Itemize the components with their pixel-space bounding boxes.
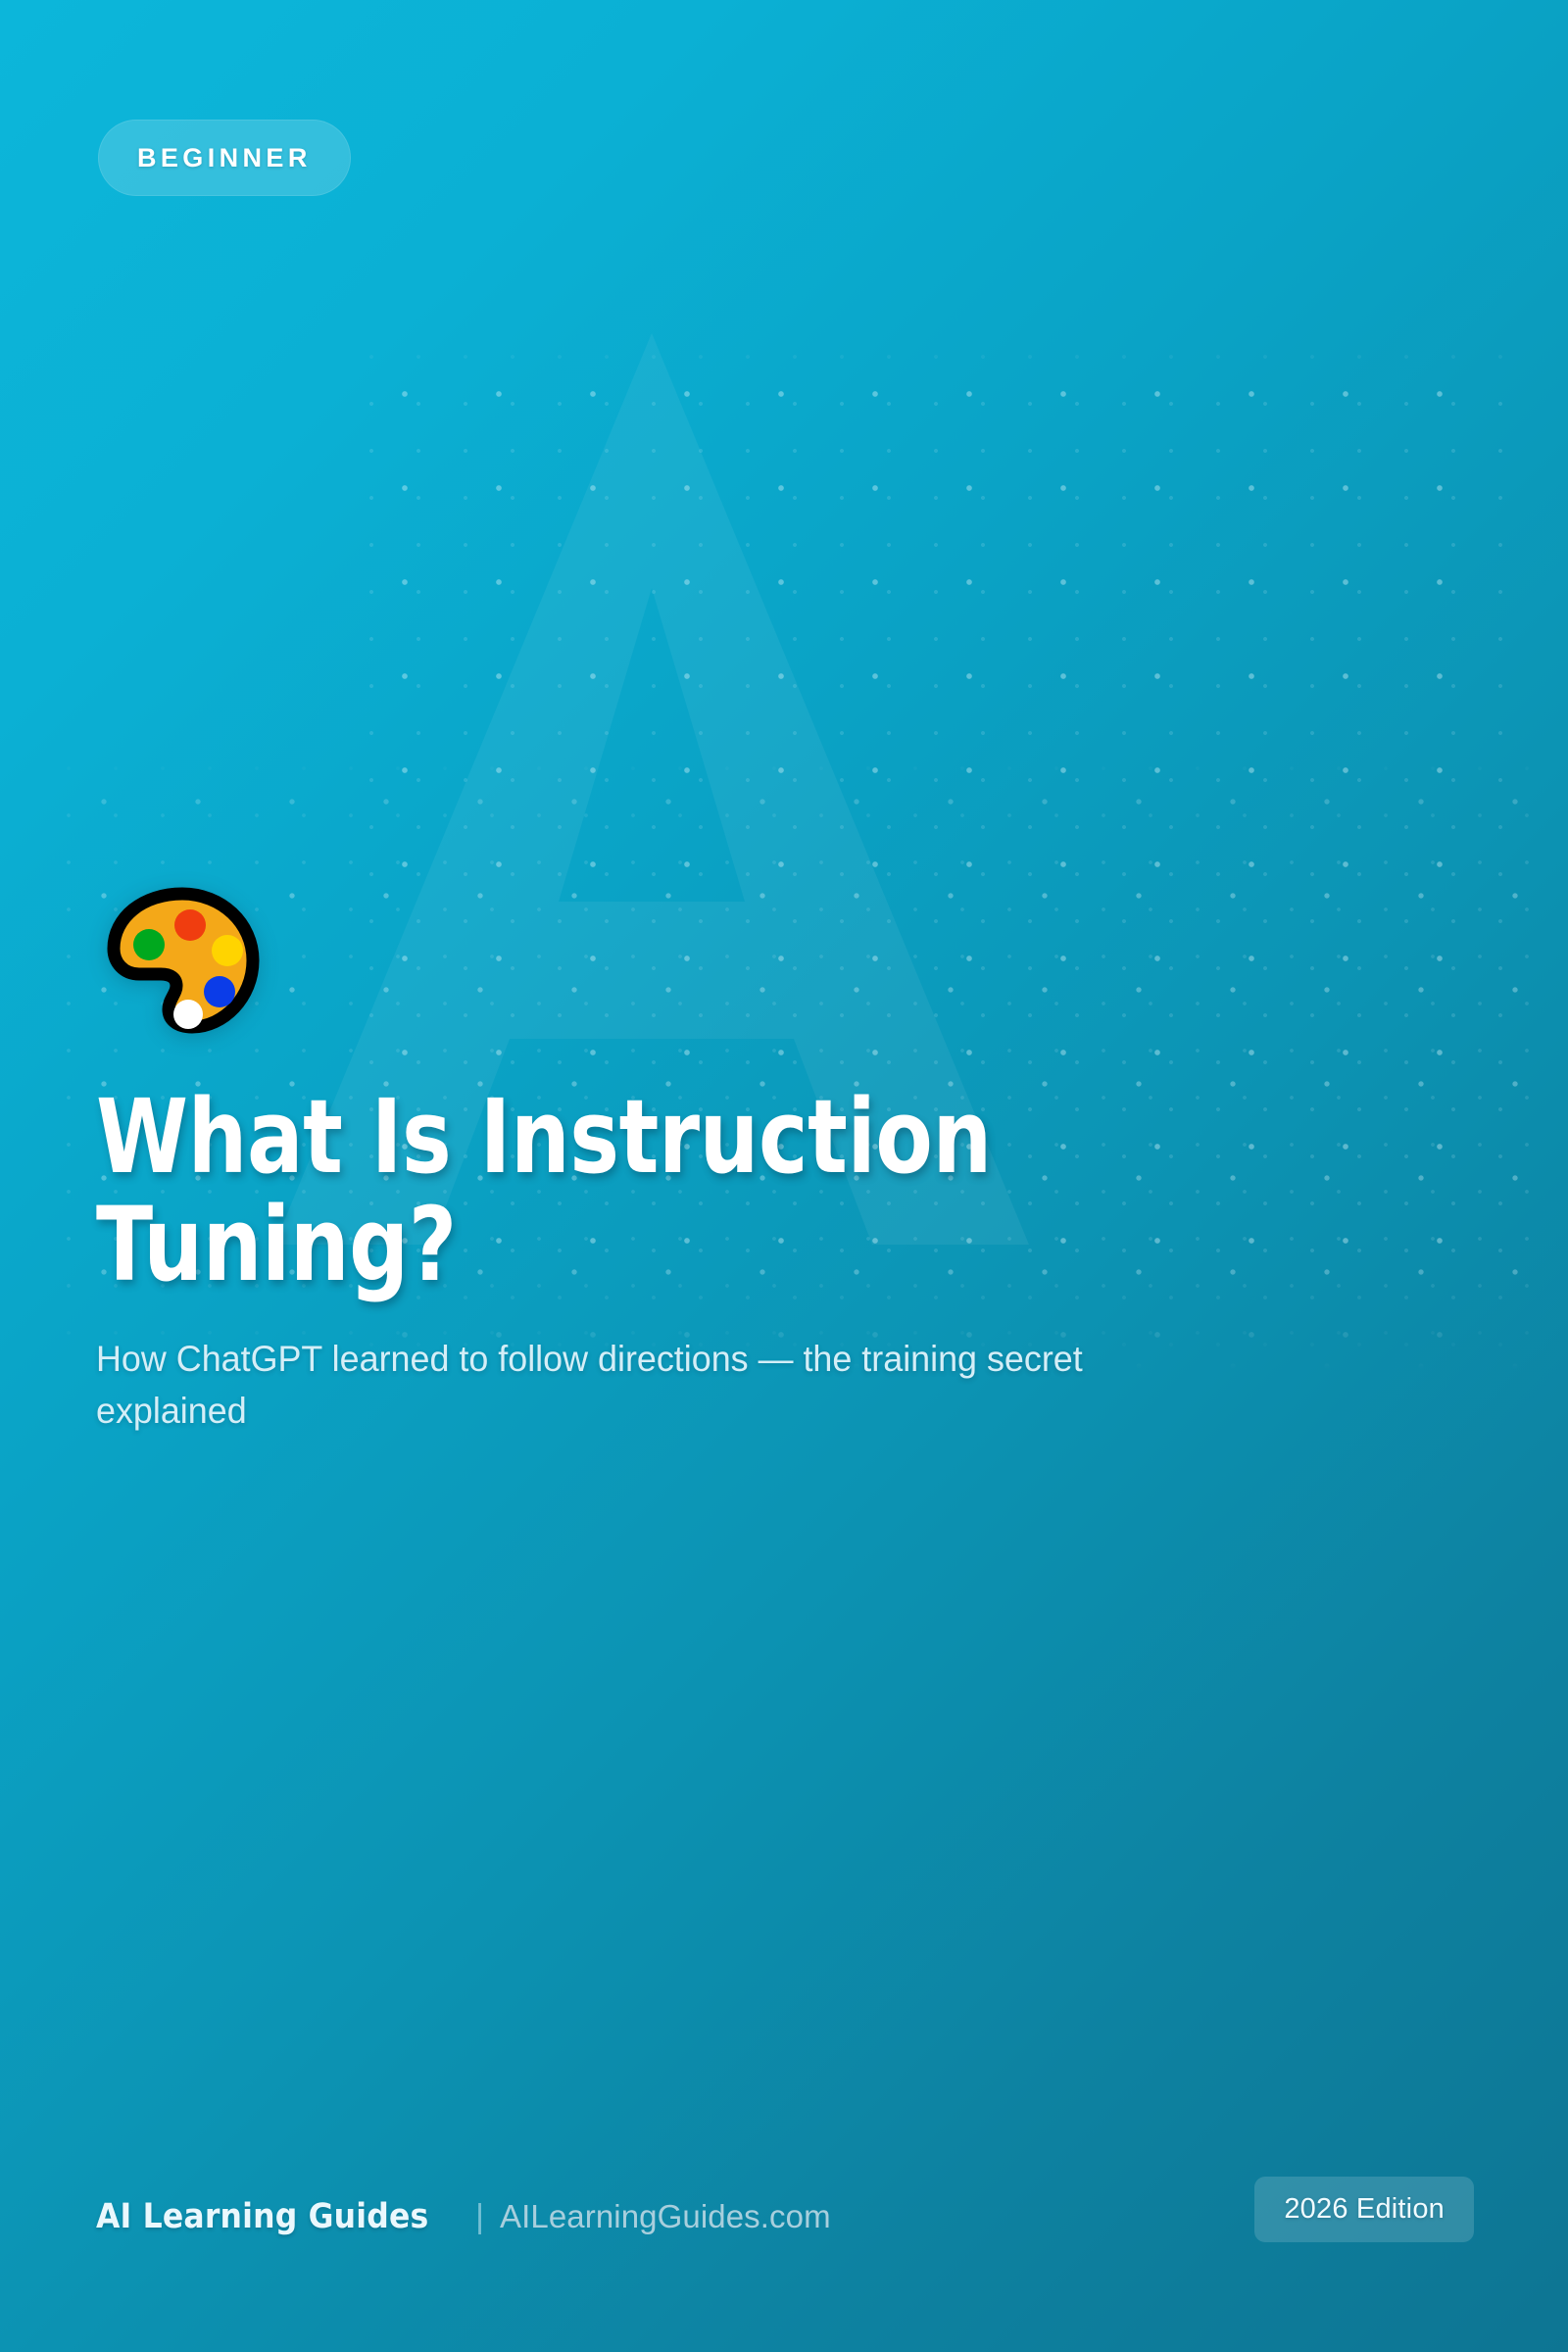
artist-palette-emoji: [106, 880, 263, 1037]
page-subtitle: How ChatGPT learned to follow directions…: [96, 1334, 1218, 1437]
difficulty-level-badge: BEGINNER: [98, 120, 351, 196]
ebook-cover: BEGINNER What Is Instruction Tuning? How…: [0, 0, 1568, 2352]
brand-website-url: AILearningGuides.com: [500, 2198, 831, 2235]
edition-label: 2026 Edition: [1284, 2193, 1445, 2226]
title-block: What Is Instruction Tuning? How ChatGPT …: [96, 1083, 1331, 1438]
footer-separator: |: [475, 2198, 484, 2236]
brand-name: AI Learning Guides: [96, 2197, 428, 2236]
difficulty-level-label: BEGINNER: [137, 143, 312, 173]
edition-badge: 2026 Edition: [1254, 2177, 1474, 2242]
page-title: What Is Instruction Tuning?: [96, 1083, 1108, 1298]
footer-branding: AI Learning Guides | AILearningGuides.co…: [96, 2197, 831, 2236]
